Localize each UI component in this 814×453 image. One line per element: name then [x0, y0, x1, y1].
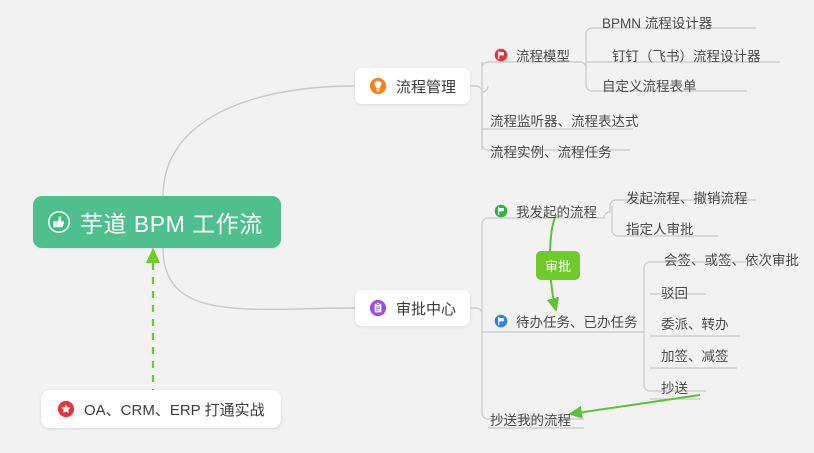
- node-process-management-label: 流程管理: [396, 76, 456, 97]
- leaf-delegate-transfer-label: 委派、转办: [661, 313, 729, 333]
- leaf-dingtalk-feishu-designer-label: 钉钉（飞书）流程设计器: [612, 45, 761, 65]
- leaf-cc-label: 抄送: [661, 377, 688, 397]
- leaf-bpmn-designer[interactable]: BPMN 流程设计器: [602, 12, 712, 32]
- leaf-dingtalk-feishu-designer[interactable]: 钉钉（飞书）流程设计器: [612, 45, 761, 65]
- node-approval-center-label: 审批中心: [396, 298, 456, 319]
- clipboard-icon: [369, 299, 387, 317]
- leaf-add-remove-sign[interactable]: 加签、减签: [661, 345, 729, 365]
- leaf-process-model[interactable]: 流程模型: [494, 45, 570, 65]
- leaf-todo-done-tasks[interactable]: 待办任务、已办任务: [494, 311, 638, 331]
- leaf-add-remove-sign-label: 加签、减签: [661, 345, 729, 365]
- link-process-model-spine: [572, 62, 586, 68]
- link-root-to-approval-center: [163, 248, 355, 309]
- lightbulb-icon: [369, 77, 387, 95]
- link-root-to-process-management: [163, 86, 355, 196]
- mindmap-canvas: 芋道 BPM 工作流 流程管理 审批中心: [0, 0, 814, 453]
- leaf-cc-to-me-process-label: 抄送我的流程: [490, 409, 571, 429]
- node-process-management[interactable]: 流程管理: [355, 68, 470, 104]
- leaf-instance-task-label: 流程实例、流程任务: [490, 141, 612, 161]
- node-oa-crm-erp-label: OA、CRM、ERP 打通实战: [84, 399, 265, 420]
- leaf-todo-done-tasks-label: 待办任务、已办任务: [516, 311, 638, 331]
- leaf-start-cancel-process[interactable]: 发起流程、撤销流程: [626, 187, 748, 207]
- leaf-delegate-transfer[interactable]: 委派、转办: [661, 313, 729, 333]
- leaf-my-initiated-process[interactable]: 我发起的流程: [494, 201, 597, 221]
- leaf-reject[interactable]: 驳回: [661, 282, 688, 302]
- leaf-cc[interactable]: 抄送: [661, 377, 688, 397]
- leaf-cc-to-me-process[interactable]: 抄送我的流程: [490, 409, 571, 429]
- root-node[interactable]: 芋道 BPM 工作流: [33, 196, 281, 248]
- leaf-custom-process-form[interactable]: 自定义流程表单: [602, 75, 697, 95]
- leaf-custom-process-form-label: 自定义流程表单: [602, 75, 697, 95]
- thumbs-up-icon: [47, 210, 71, 234]
- flag-icon: [494, 204, 508, 218]
- leaf-assignee-approval[interactable]: 指定人审批: [626, 218, 694, 238]
- leaf-start-cancel-process-label: 发起流程、撤销流程: [626, 187, 748, 207]
- leaf-reject-label: 驳回: [661, 282, 688, 302]
- leaf-listener-expression-label: 流程监听器、流程表达式: [490, 110, 639, 130]
- leaf-instance-task[interactable]: 流程实例、流程任务: [490, 141, 612, 161]
- badge-approve-label: 审批: [545, 256, 571, 275]
- leaf-countersign-label: 会签、或签、依次审批: [664, 249, 799, 269]
- star-icon: [57, 400, 75, 418]
- leaf-listener-expression[interactable]: 流程监听器、流程表达式: [490, 110, 639, 130]
- leaf-countersign[interactable]: 会签、或签、依次审批: [664, 249, 799, 269]
- flag-icon: [494, 48, 508, 62]
- badge-approve[interactable]: 审批: [536, 251, 580, 280]
- root-label: 芋道 BPM 工作流: [80, 205, 263, 239]
- node-approval-center[interactable]: 审批中心: [355, 290, 470, 326]
- leaf-process-model-label: 流程模型: [516, 45, 570, 65]
- arrow-cc-relation: [570, 395, 700, 414]
- flag-icon: [494, 314, 508, 328]
- leaf-my-initiated-process-label: 我发起的流程: [516, 201, 597, 221]
- node-oa-crm-erp[interactable]: OA、CRM、ERP 打通实战: [41, 390, 281, 428]
- leaf-assignee-approval-label: 指定人审批: [626, 218, 694, 238]
- leaf-bpmn-designer-label: BPMN 流程设计器: [602, 12, 712, 32]
